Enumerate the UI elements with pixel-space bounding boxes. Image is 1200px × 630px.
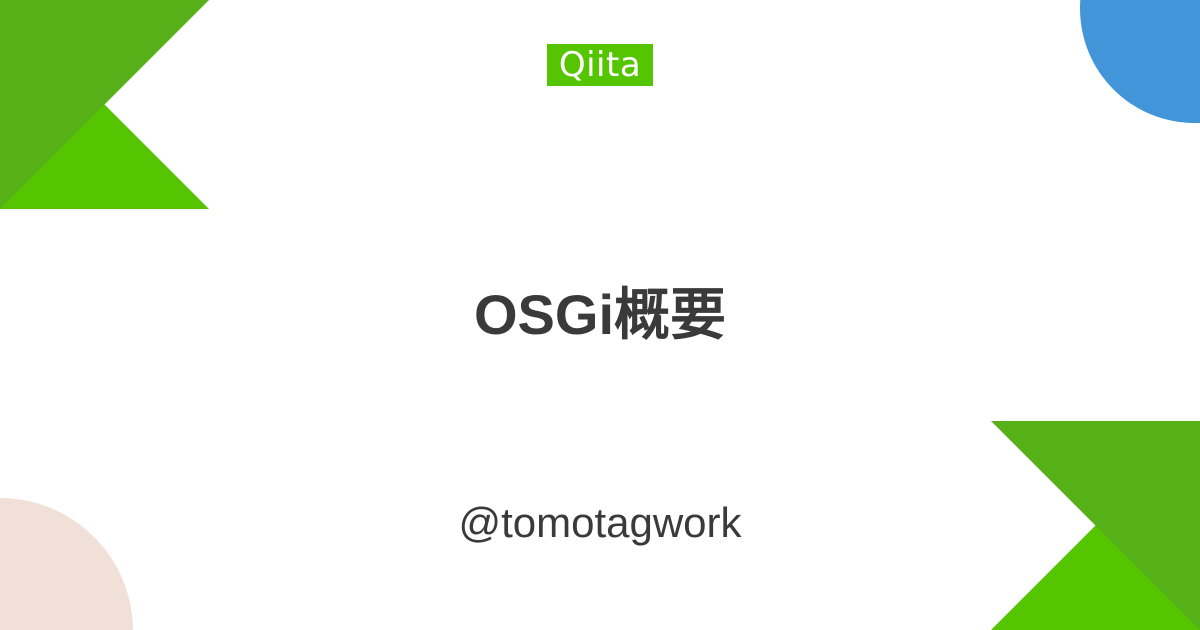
- page-title: OSGi概要: [474, 279, 726, 352]
- author-container: @tomotagwork: [0, 498, 1200, 548]
- author-handle: @tomotagwork: [458, 498, 741, 548]
- qiita-ogp-card: Qiita OSGi概要 @tomotagwork: [0, 0, 1200, 630]
